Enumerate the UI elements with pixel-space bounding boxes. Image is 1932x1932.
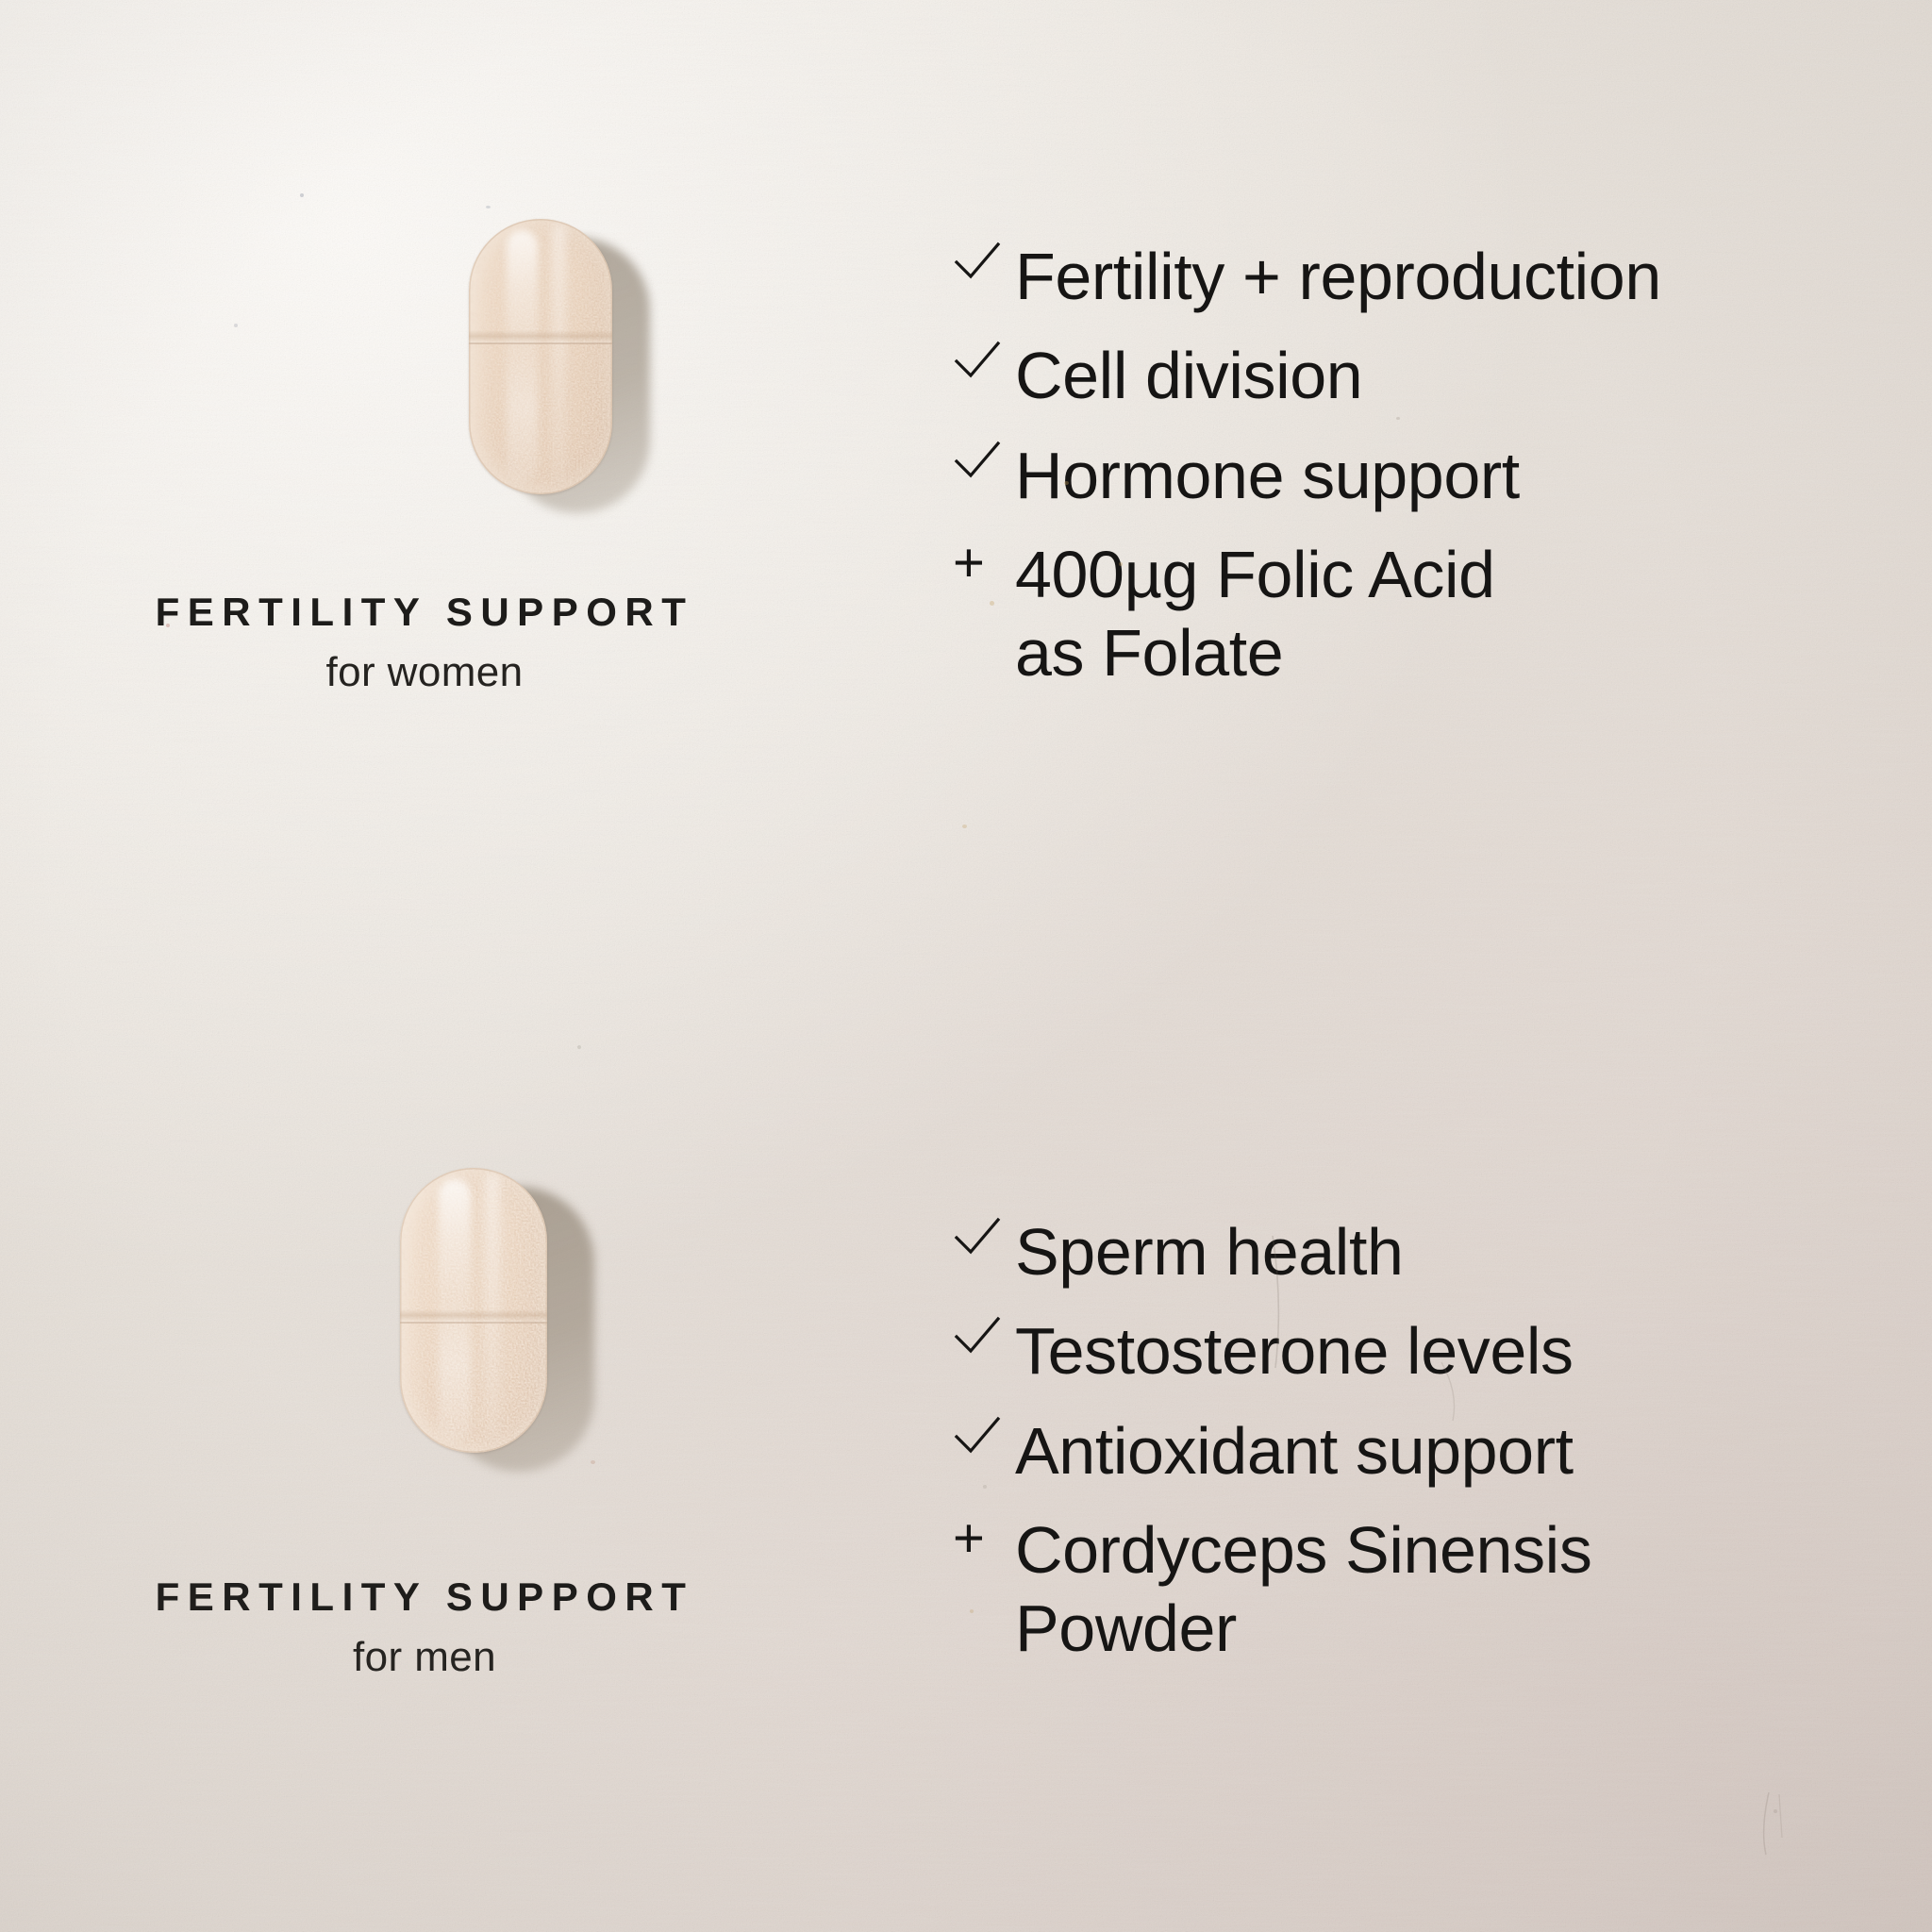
capsule-body bbox=[400, 1168, 547, 1453]
product-subtitle: for men bbox=[0, 1634, 849, 1681]
check-icon bbox=[953, 1312, 1015, 1361]
check-icon bbox=[953, 1213, 1015, 1262]
benefit-item: Testosterone levels bbox=[953, 1312, 1906, 1391]
capsule-body bbox=[469, 219, 612, 494]
benefit-label: 400µg Folic Acid as Folate bbox=[1015, 536, 1495, 693]
product-women: FERTILITY SUPPORT for women bbox=[0, 0, 849, 966]
benefit-item: Sperm health bbox=[953, 1213, 1906, 1291]
benefit-list-women: Fertility + reproduction Cell division H… bbox=[953, 238, 1906, 713]
check-icon bbox=[953, 1412, 1015, 1461]
product-benefits-graphic: FERTILITY SUPPORT for women Fertility + … bbox=[0, 0, 1932, 1932]
product-subtitle: for women bbox=[0, 649, 849, 696]
benefit-label: Cordyceps Sinensis Powder bbox=[1015, 1511, 1591, 1669]
benefit-item: Fertility + reproduction bbox=[953, 238, 1906, 316]
benefit-label: Antioxidant support bbox=[1015, 1412, 1574, 1491]
plus-glyph: + bbox=[953, 536, 985, 591]
section-women: FERTILITY SUPPORT for women Fertility + … bbox=[0, 0, 1932, 966]
check-icon bbox=[953, 337, 1015, 386]
capsule-for-men bbox=[400, 1168, 664, 1470]
capsule-rim bbox=[469, 219, 612, 494]
benefit-label: Cell division bbox=[1015, 337, 1362, 415]
check-icon bbox=[953, 238, 1015, 287]
capsule-rim bbox=[400, 1168, 547, 1453]
benefit-item: + 400µg Folic Acid as Folate bbox=[953, 536, 1906, 693]
capsule-for-women bbox=[469, 219, 705, 502]
section-men: FERTILITY SUPPORT for men Sperm health bbox=[0, 966, 1932, 1932]
benefit-label: Sperm health bbox=[1015, 1213, 1404, 1291]
plus-icon: + bbox=[953, 1511, 1015, 1566]
benefit-item: Hormone support bbox=[953, 437, 1906, 515]
plus-icon: + bbox=[953, 536, 1015, 591]
product-men: FERTILITY SUPPORT for men bbox=[0, 966, 849, 1932]
benefit-item: Cell division bbox=[953, 337, 1906, 415]
plus-glyph: + bbox=[953, 1511, 985, 1566]
caption-women: FERTILITY SUPPORT for women bbox=[0, 591, 849, 696]
benefit-label: Hormone support bbox=[1015, 437, 1520, 515]
benefit-item: Antioxidant support bbox=[953, 1412, 1906, 1491]
check-icon bbox=[953, 437, 1015, 486]
benefit-item: + Cordyceps Sinensis Powder bbox=[953, 1511, 1906, 1669]
caption-men: FERTILITY SUPPORT for men bbox=[0, 1575, 849, 1681]
benefit-list-men: Sperm health Testosterone levels Antioxi… bbox=[953, 1213, 1906, 1689]
benefit-label: Fertility + reproduction bbox=[1015, 238, 1661, 316]
product-title: FERTILITY SUPPORT bbox=[0, 1575, 849, 1619]
product-title: FERTILITY SUPPORT bbox=[0, 591, 849, 634]
benefit-label: Testosterone levels bbox=[1015, 1312, 1574, 1391]
